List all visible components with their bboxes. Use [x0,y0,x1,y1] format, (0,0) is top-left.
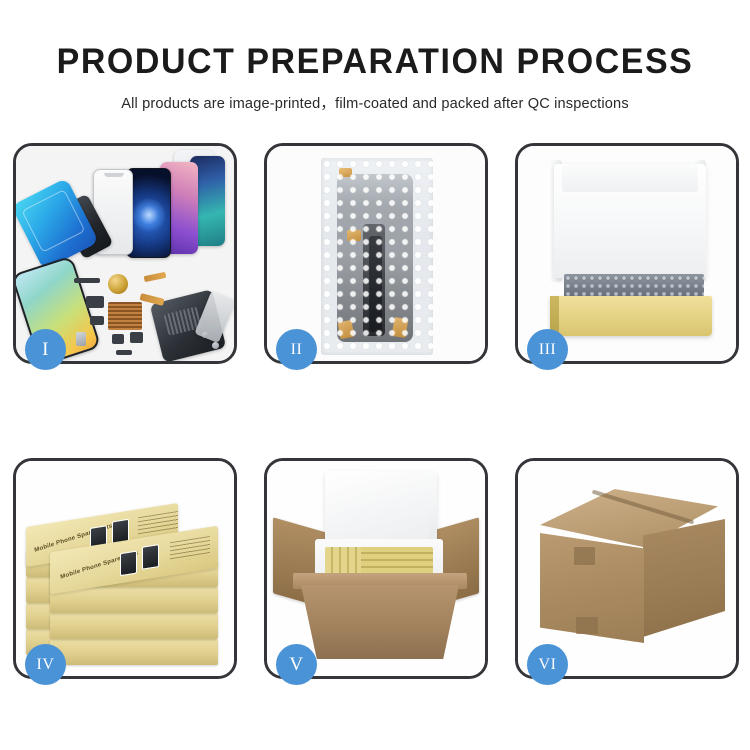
step-card-iv[interactable]: Mobile Phone Spare Parts Mobile Phone Sp… [13,458,237,679]
speaker-module-icon [108,274,128,294]
step-badge-iii: III [527,329,568,370]
step-badge-vi: VI [527,644,568,685]
foam-sheet-icon [554,164,706,278]
process-steps-grid: I II [13,143,739,679]
step-card-iii[interactable]: III [515,143,739,364]
box-lid-product-photo [142,544,159,570]
page-title: PRODUCT PREPARATION PROCESS [11,44,739,79]
box-lid-product-photo [120,551,137,577]
carton-tape-patch [574,547,595,565]
product-preparation-infographic: PRODUCT PREPARATION PROCESS All products… [0,0,750,750]
stacked-box [50,587,218,613]
small-part-icon [74,278,100,283]
step-badge-v: V [276,644,317,685]
header: PRODUCT PREPARATION PROCESS All products… [0,0,750,113]
page-subtitle: All products are image-printed，film-coat… [0,92,750,113]
camera-module-icon [76,332,86,346]
small-part-icon [116,350,132,355]
connector-icon [130,332,143,343]
screen-flex-cable-icon [369,236,382,332]
carton-side-face [643,519,725,637]
box-lid-spec-lines [170,536,210,562]
step-badge-ii: II [276,329,317,370]
tape-piece-icon [338,320,355,339]
step-card-vi[interactable]: VI [515,458,739,679]
connector-icon [90,316,104,325]
kraft-box-body-icon [550,296,712,336]
carton-body-icon [301,585,459,659]
carton-tape-patch [576,617,598,634]
screw-icon [202,332,208,338]
step-badge-iv: IV [25,644,66,685]
tape-piece-icon [392,317,409,338]
connector-icon [86,296,104,308]
step-card-v[interactable]: V [264,458,488,679]
step-card-i[interactable]: I [13,143,237,364]
foam-cooler-lid-icon [325,471,437,549]
stacked-box [50,639,218,665]
flex-cable-icon [144,272,167,282]
bubble-wrap-bag-icon [321,158,433,355]
stacked-box [50,613,218,639]
chip-board-icon [108,302,142,330]
tape-piece-icon [339,168,352,177]
connector-icon [112,334,124,344]
tape-piece-icon [347,230,361,241]
step-card-ii[interactable]: II [264,143,488,364]
screw-icon [212,342,219,349]
box-stack: Mobile Phone Spare Parts Mobile Phone Sp… [22,479,228,665]
step-badge-i: I [25,329,66,370]
